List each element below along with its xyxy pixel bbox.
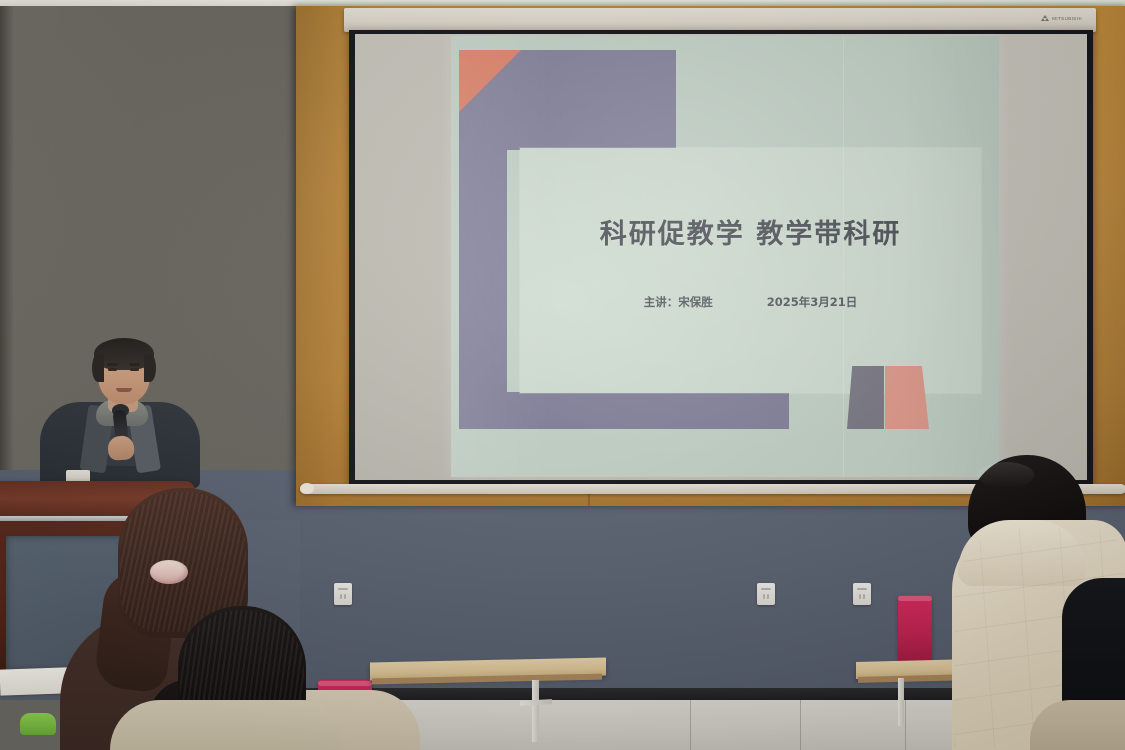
outlet-slot bbox=[767, 594, 769, 599]
outlet-slot bbox=[859, 594, 861, 599]
student-right-hair-highlight bbox=[978, 462, 1034, 488]
speaker-hand bbox=[107, 435, 135, 461]
outlet-slot bbox=[763, 594, 765, 599]
projection-screen-surface: 科研促教学 教学带科研 主讲：宋保胜 2025年3月21日 bbox=[355, 34, 1087, 480]
wall-outlet-left[interactable] bbox=[334, 583, 352, 605]
wall-outlet-center[interactable] bbox=[757, 583, 775, 605]
screen-rail-knob bbox=[300, 483, 314, 494]
outlet-slot bbox=[761, 588, 771, 590]
housing-brand-label: MITSUBISHI bbox=[1052, 16, 1082, 21]
stool-rim bbox=[318, 681, 372, 686]
speaker-hair-side bbox=[144, 354, 156, 382]
tri-diamond-icon bbox=[1041, 15, 1049, 22]
classroom-photo: MITSUBISHI 科研促教学 教学带科研 主讲：宋保胜 2025年3月21日 bbox=[0, 0, 1125, 750]
speaker-eyebrow bbox=[129, 363, 140, 366]
speaker-presenter bbox=[40, 338, 200, 488]
student-far-right-dark-top bbox=[1062, 578, 1125, 718]
stool-right-rim bbox=[898, 596, 932, 601]
speaker-eyebrow bbox=[107, 363, 118, 366]
outlet-slot bbox=[340, 594, 342, 599]
stool-right bbox=[898, 595, 932, 665]
wall-outlet-right[interactable] bbox=[853, 583, 871, 605]
desk-right-leg bbox=[898, 678, 904, 726]
floor-tile-line bbox=[690, 700, 691, 750]
projected-slide: 科研促教学 教学带科研 主讲：宋保胜 2025年3月21日 bbox=[451, 36, 999, 477]
speaker-eye bbox=[108, 368, 117, 371]
student-left-scrunchie bbox=[150, 560, 188, 584]
floor-tile-line bbox=[800, 700, 801, 750]
speaker-hair-side bbox=[92, 354, 104, 382]
outlet-slot bbox=[338, 588, 348, 590]
green-object-on-desk bbox=[20, 713, 56, 735]
outlet-slot bbox=[344, 594, 346, 599]
outlet-slot bbox=[857, 588, 867, 590]
projection-glow bbox=[451, 36, 999, 477]
student-bottom-left-shoulder bbox=[110, 700, 340, 750]
outlet-slot bbox=[863, 594, 865, 599]
projector-screen-housing: MITSUBISHI bbox=[344, 8, 1096, 32]
speaker-eye bbox=[130, 368, 139, 371]
mitsubishi-logo-icon: MITSUBISHI bbox=[1041, 15, 1082, 22]
desk-center-leg bbox=[532, 680, 539, 742]
floor-tile-line bbox=[905, 700, 906, 750]
speaker-mouth bbox=[116, 388, 132, 392]
